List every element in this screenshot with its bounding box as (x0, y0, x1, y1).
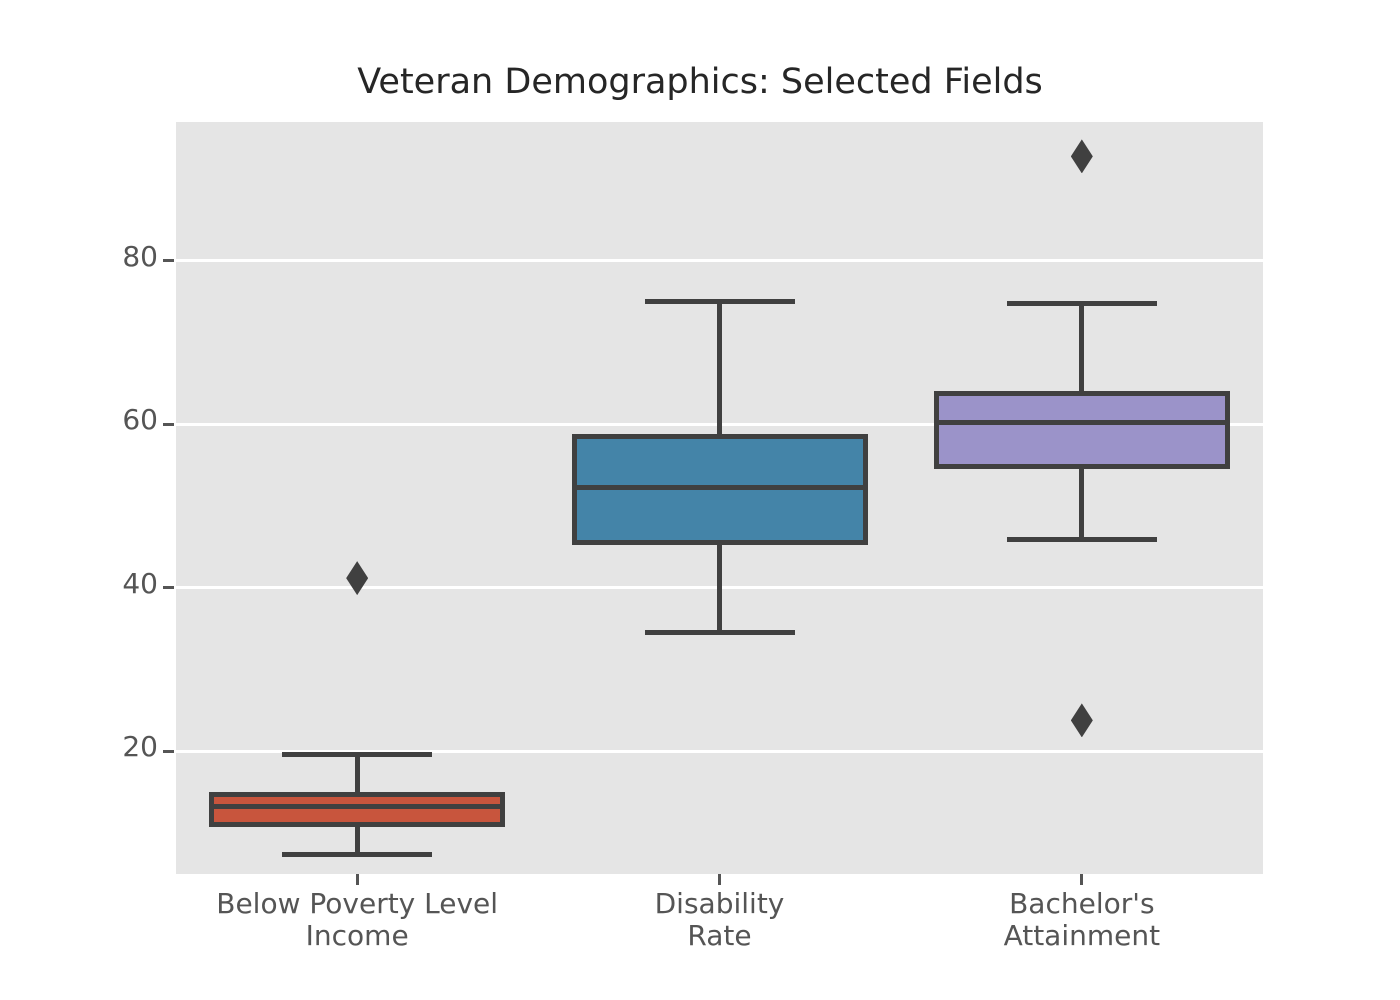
y-tick-label-60: 60 (38, 406, 158, 434)
x-tick-label-line2-2: Attainment (872, 920, 1292, 952)
x-tick-label-1: DisabilityRate (510, 888, 930, 952)
whisker-cap-upper-0 (282, 752, 432, 757)
x-tick-label-line2-1: Rate (510, 920, 930, 952)
x-tick-label-line1-0: Below Poverty Level (147, 888, 567, 920)
outlier-marker-2-0 (1071, 139, 1093, 173)
x-tick-label-line1-2: Bachelor's (872, 888, 1292, 920)
whisker-upper-1 (717, 302, 722, 434)
outlier-marker-0-0 (346, 561, 368, 595)
whisker-cap-lower-1 (645, 630, 795, 635)
box-plot-figure: Veteran Demographics: Selected Fields Pe… (0, 0, 1400, 1000)
median-line-1 (572, 485, 868, 490)
x-tick-label-line1-1: Disability (510, 888, 930, 920)
y-tick-mark-60 (163, 423, 174, 426)
box-2[interactable] (934, 391, 1230, 469)
whisker-lower-2 (1079, 469, 1084, 539)
y-tick-mark-20 (163, 750, 174, 753)
whisker-upper-0 (355, 755, 360, 793)
x-tick-label-0: Below Poverty LevelIncome (147, 888, 567, 952)
whisker-cap-upper-1 (645, 299, 795, 304)
whisker-cap-lower-2 (1007, 537, 1157, 542)
x-tick-label-2: Bachelor'sAttainment (872, 888, 1292, 952)
whisker-upper-2 (1079, 303, 1084, 390)
whisker-lower-0 (355, 827, 360, 855)
plot-area (176, 122, 1263, 874)
gridline-y-80 (176, 259, 1263, 262)
outlier-marker-2-1 (1071, 703, 1093, 737)
chart-title: Veteran Demographics: Selected Fields (0, 62, 1400, 102)
whisker-cap-upper-2 (1007, 301, 1157, 306)
x-tick-label-line2-0: Income (147, 920, 567, 952)
x-tick-mark-1 (718, 874, 721, 885)
x-tick-mark-2 (1080, 874, 1083, 885)
y-tick-label-20: 20 (38, 733, 158, 761)
median-line-0 (209, 804, 505, 809)
y-tick-label-80: 80 (38, 243, 158, 271)
y-tick-mark-80 (163, 259, 174, 262)
x-tick-mark-0 (356, 874, 359, 885)
whisker-lower-1 (717, 545, 722, 632)
y-tick-mark-40 (163, 586, 174, 589)
median-line-2 (934, 420, 1230, 425)
y-tick-label-40: 40 (38, 570, 158, 598)
whisker-cap-lower-0 (282, 852, 432, 857)
